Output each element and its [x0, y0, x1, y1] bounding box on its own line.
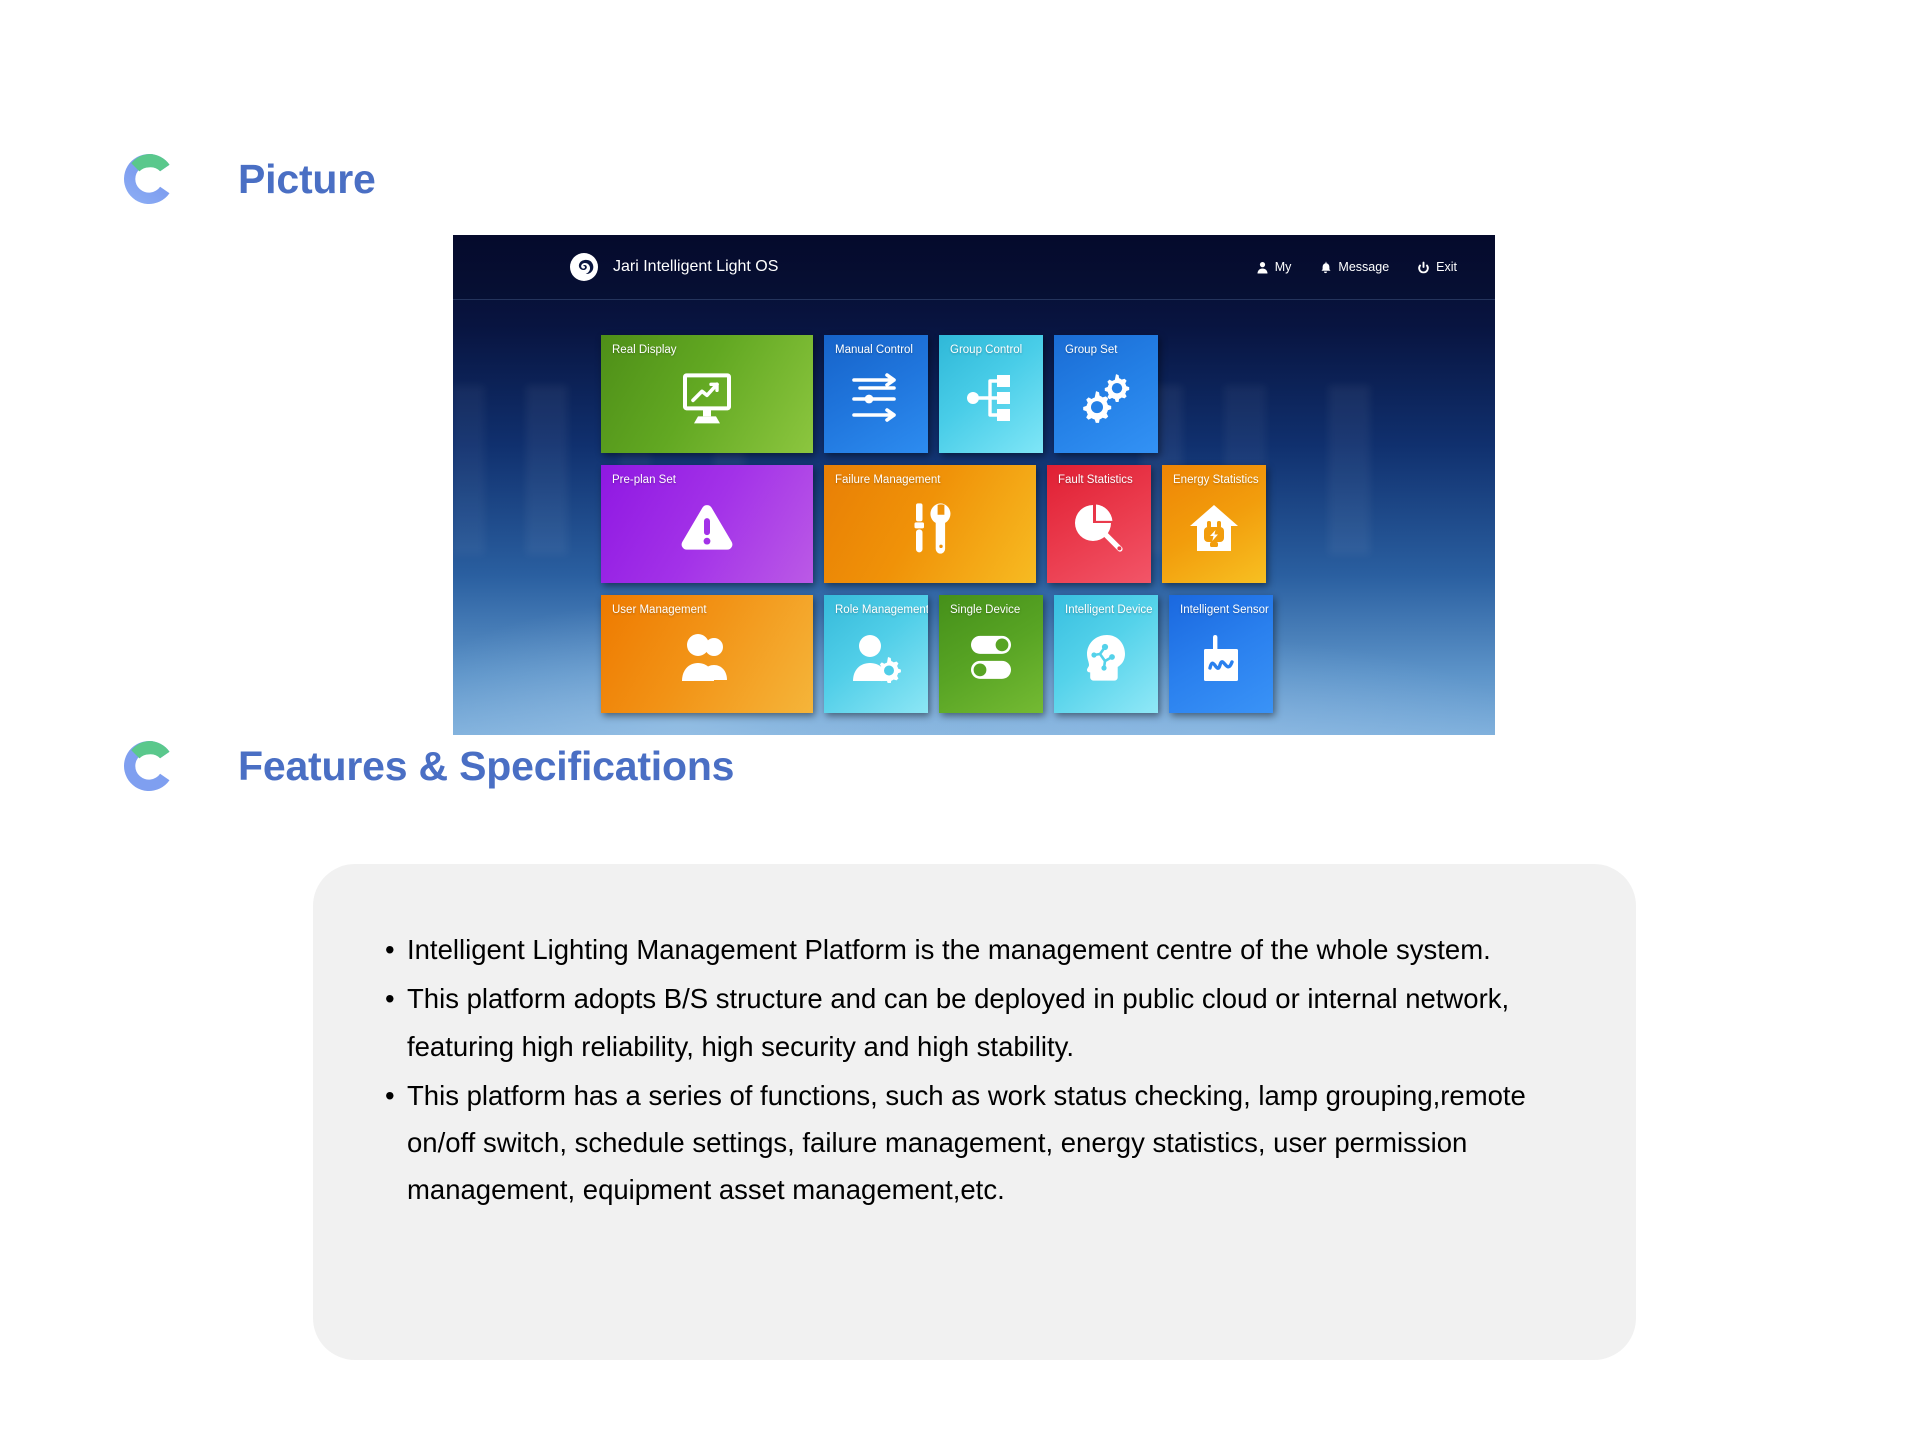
- pie-magnifier-icon: [1047, 503, 1151, 553]
- tile-label: Group Set: [1065, 344, 1158, 357]
- c-logo-icon: [118, 735, 180, 797]
- topnav-label-message: Message: [1338, 260, 1389, 274]
- tile-real-display[interactable]: Real Display: [601, 335, 813, 453]
- tile-single-device[interactable]: Single Device: [939, 595, 1043, 713]
- brand: Jari Intelligent Light OS: [569, 252, 778, 282]
- c-logo-icon: [118, 148, 180, 210]
- tile-label: Energy Statistics: [1173, 474, 1266, 487]
- tile-row: Pre-plan Set Failure Management: [601, 465, 1361, 583]
- dashboard-screenshot: Jari Intelligent Light OS My: [453, 235, 1495, 735]
- screwdriver-wrench-icon: [824, 501, 1036, 555]
- tile-label: Intelligent Device: [1065, 604, 1158, 617]
- bullet-marker: •: [385, 1072, 395, 1119]
- tile-label: Group Control: [950, 344, 1043, 357]
- power-icon: [1417, 261, 1430, 274]
- bell-icon: [1319, 261, 1332, 274]
- brand-name: Jari Intelligent Light OS: [613, 258, 778, 276]
- tile-pre-plan-set[interactable]: Pre-plan Set: [601, 465, 813, 583]
- tile-label: Real Display: [612, 344, 813, 357]
- house-plug-icon: [1162, 503, 1266, 553]
- tile-label: Fault Statistics: [1058, 474, 1151, 487]
- tile-label: Manual Control: [835, 344, 928, 357]
- tile-grid: Real Display Manual Control: [601, 335, 1361, 725]
- tile-energy-statistics[interactable]: Energy Statistics: [1162, 465, 1266, 583]
- tile-label: Intelligent Sensor: [1180, 604, 1273, 617]
- users-icon: [601, 633, 813, 683]
- list-item: • This platform has a series of function…: [355, 1072, 1566, 1214]
- tile-manual-control[interactable]: Manual Control: [824, 335, 928, 453]
- sensor-wave-icon: [1169, 633, 1273, 683]
- monitor-chart-icon: [601, 371, 813, 425]
- tile-role-management[interactable]: Role Management: [824, 595, 928, 713]
- tile-intelligent-device[interactable]: Intelligent Device: [1054, 595, 1158, 713]
- topnav-item-my[interactable]: My: [1256, 260, 1292, 274]
- bullet-marker: •: [385, 926, 395, 973]
- features-section-title: Features & Specifications: [238, 743, 734, 790]
- brain-head-icon: [1054, 633, 1158, 683]
- tile-label: User Management: [612, 604, 813, 617]
- toggles-icon: [939, 634, 1043, 682]
- list-item-text: This platform adopts B/S structure and c…: [407, 983, 1509, 1061]
- topnav-label-exit: Exit: [1436, 260, 1457, 274]
- picture-section-heading: Picture: [118, 148, 376, 210]
- features-section-heading: Features & Specifications: [118, 735, 734, 797]
- list-item: • This platform adopts B/S structure and…: [355, 975, 1566, 1070]
- tile-row: Real Display Manual Control: [601, 335, 1361, 453]
- dashboard-topbar: Jari Intelligent Light OS My: [453, 235, 1495, 300]
- list-item-text: This platform has a series of functions,…: [407, 1080, 1526, 1206]
- jari-swirl-logo-icon: [569, 252, 599, 282]
- tile-label: Role Management: [835, 604, 928, 617]
- features-panel: • Intelligent Lighting Management Platfo…: [313, 864, 1636, 1360]
- hierarchy-icon: [939, 373, 1043, 423]
- tile-group-set[interactable]: Group Set: [1054, 335, 1158, 453]
- features-bullet-list: • Intelligent Lighting Management Platfo…: [355, 926, 1566, 1214]
- tile-intelligent-sensor[interactable]: Intelligent Sensor: [1169, 595, 1273, 713]
- picture-section-title: Picture: [238, 156, 376, 203]
- tile-fault-statistics[interactable]: Fault Statistics: [1047, 465, 1151, 583]
- tile-label: Failure Management: [835, 474, 1036, 487]
- topnav-item-message[interactable]: Message: [1319, 260, 1389, 274]
- tile-label: Pre-plan Set: [612, 474, 813, 487]
- tile-group-control[interactable]: Group Control: [939, 335, 1043, 453]
- dashboard-topnav: My Message Exit: [1228, 260, 1457, 274]
- topnav-label-my: My: [1275, 260, 1292, 274]
- list-item: • Intelligent Lighting Management Platfo…: [355, 926, 1566, 973]
- sliders-arrows-icon: [824, 373, 928, 423]
- tile-user-management[interactable]: User Management: [601, 595, 813, 713]
- tile-label: Single Device: [950, 604, 1043, 617]
- topnav-item-exit[interactable]: Exit: [1417, 260, 1457, 274]
- person-icon: [1256, 261, 1269, 274]
- tile-failure-management[interactable]: Failure Management: [824, 465, 1036, 583]
- warning-triangle-icon: [601, 502, 813, 554]
- gears-icon: [1054, 372, 1158, 424]
- tile-row: User Management Role Management: [601, 595, 1361, 713]
- list-item-text: Intelligent Lighting Management Platform…: [407, 934, 1491, 965]
- user-gear-icon: [824, 633, 928, 683]
- bullet-marker: •: [385, 975, 395, 1022]
